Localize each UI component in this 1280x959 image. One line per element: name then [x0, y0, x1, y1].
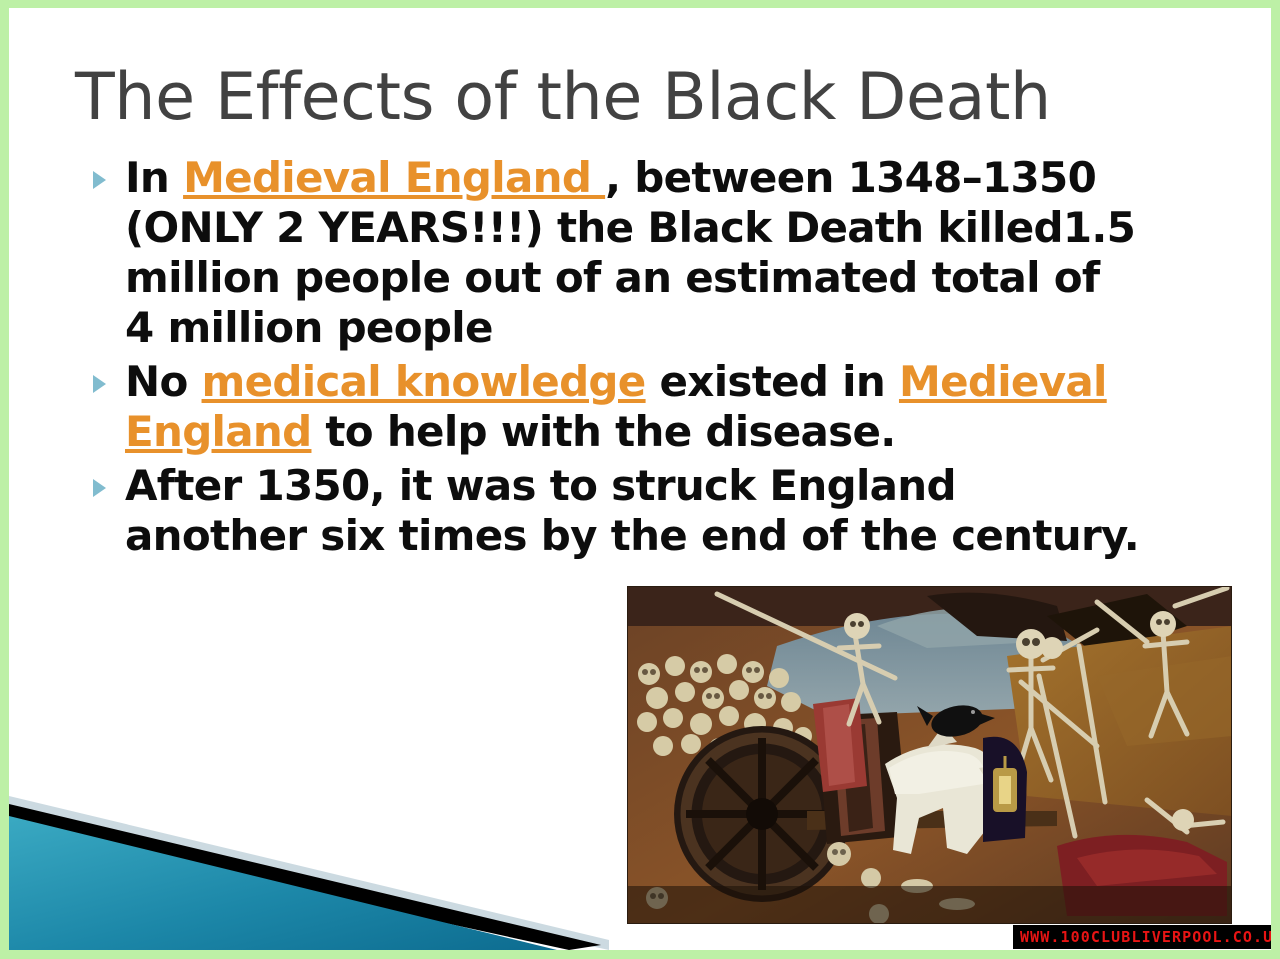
bullet-item-3: After 1350, it was to struck England ano…: [85, 461, 1140, 561]
slide-frame: The Effects of the Black Death In Mediev…: [0, 0, 1280, 959]
hyperlink-text[interactable]: medical knowledge: [202, 357, 646, 406]
bullet-item-1: In Medieval England , between 1348–1350 …: [85, 153, 1140, 353]
slide-canvas: The Effects of the Black Death In Mediev…: [9, 8, 1271, 950]
watermark-url: WWW.100CLUBLIVERPOOL.CO.UK: [1013, 925, 1271, 949]
triangle-bullet-icon: [93, 171, 106, 189]
plain-text: existed in: [646, 357, 899, 406]
plain-text: In: [125, 153, 183, 202]
bullet-list: In Medieval England , between 1348–1350 …: [85, 153, 1140, 565]
hyperlink-text[interactable]: Medieval England: [183, 153, 605, 202]
corner-wedge-decoration: [9, 790, 609, 950]
page-title: The Effects of the Black Death: [75, 65, 1145, 130]
bullet-text-1: In Medieval England , between 1348–1350 …: [125, 153, 1135, 352]
bullet-text-2: No medical knowledge existed in Medieval…: [125, 357, 1107, 456]
bullet-item-2: No medical knowledge existed in Medieval…: [85, 357, 1140, 457]
bullet-text-3: After 1350, it was to struck England ano…: [125, 461, 1139, 560]
plain-text: to help with the disease.: [311, 407, 895, 456]
triumph-of-death-painting: [627, 586, 1232, 924]
triangle-bullet-icon: [93, 479, 106, 497]
plain-text: After 1350, it was to struck England ano…: [125, 461, 1139, 560]
plain-text: No: [125, 357, 202, 406]
triangle-bullet-icon: [93, 375, 106, 393]
